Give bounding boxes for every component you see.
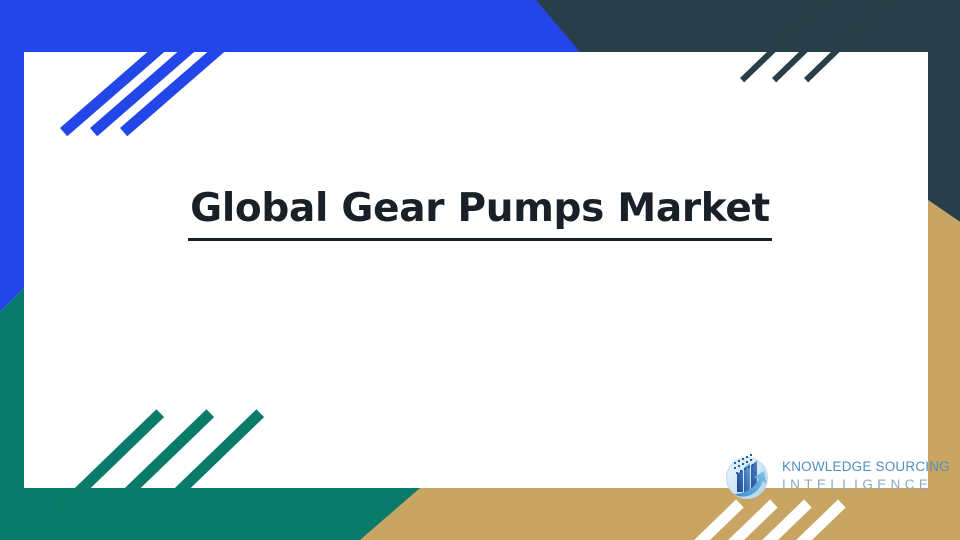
brand-name-line1: KNOWLEDGE SOURCING bbox=[782, 459, 950, 474]
knowledge-sourcing-intelligence-icon bbox=[720, 448, 774, 502]
brand-logo: KNOWLEDGE SOURCING INTELLIGENCE bbox=[720, 446, 935, 504]
title-block: Global Gear Pumps Market bbox=[0, 186, 960, 241]
brand-name-line2: INTELLIGENCE bbox=[782, 477, 950, 492]
top-navy-band bbox=[520, 0, 960, 52]
left-blue-band bbox=[0, 0, 24, 312]
page-title: Global Gear Pumps Market bbox=[188, 186, 772, 241]
top-blue-band bbox=[0, 0, 600, 52]
slide-canvas: Global Gear Pumps Market bbox=[0, 0, 960, 540]
brand-logo-text: KNOWLEDGE SOURCING INTELLIGENCE bbox=[782, 459, 950, 492]
